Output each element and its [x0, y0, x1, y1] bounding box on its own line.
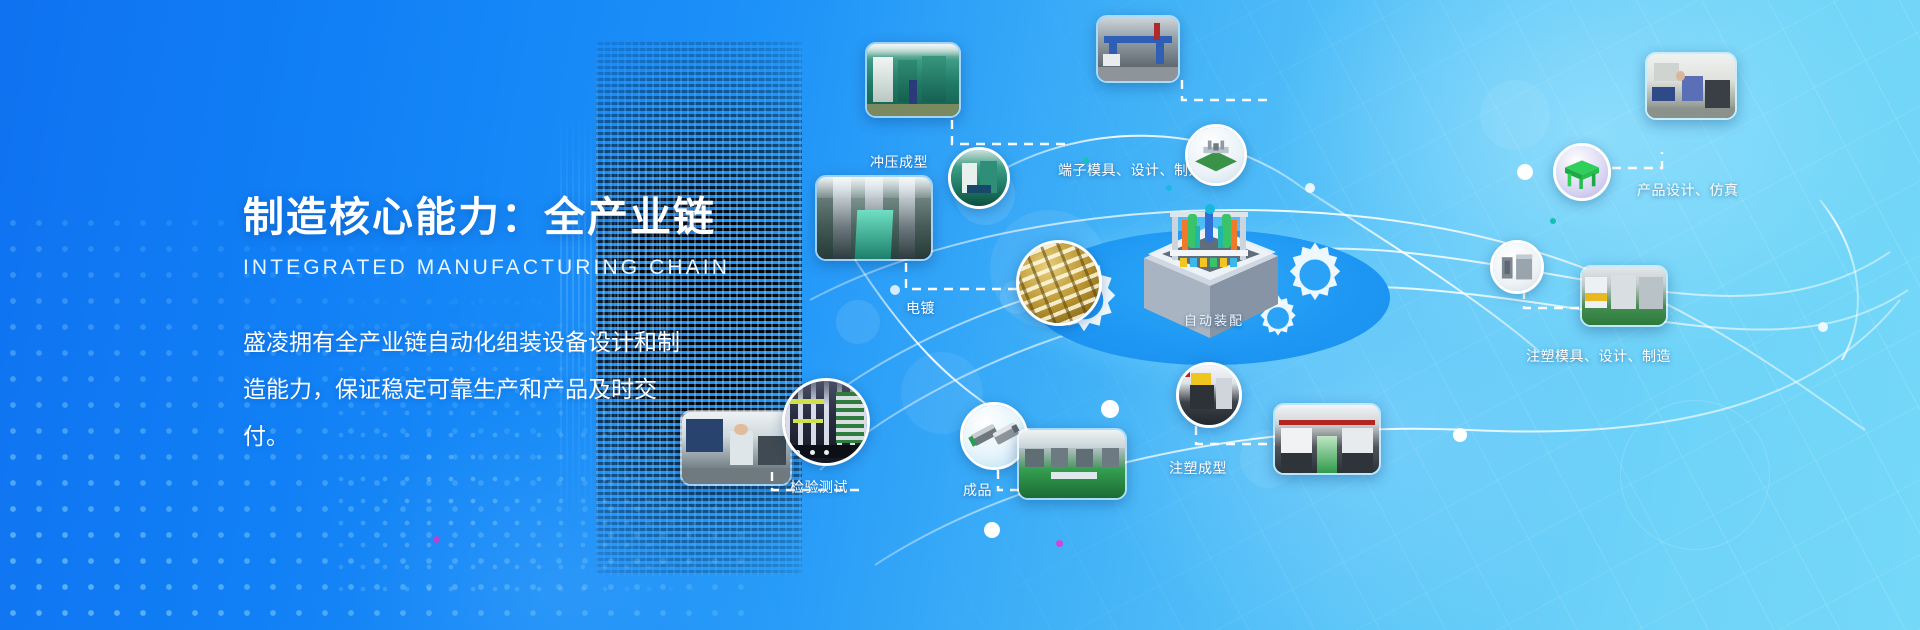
node-label-injection-mold: 注塑模具、设计、制造 — [1526, 346, 1671, 366]
node-photo-injection-mold[interactable] — [1580, 265, 1668, 327]
node-icon-plating-detail[interactable] — [1016, 240, 1102, 326]
manufacturing-chain-diagram: 自动装配 电镀 — [780, 0, 1920, 630]
node-label-injection-forming: 注塑成型 — [1169, 458, 1227, 478]
node-icon-injection-mold-3d[interactable] — [1490, 240, 1544, 294]
node-icon-stamping-machine[interactable] — [948, 147, 1010, 209]
node-label-electroplating: 电镀 — [906, 298, 935, 318]
automatic-assembly-machine: 自动装配 — [1126, 192, 1294, 342]
node-icon-product-design-3d[interactable] — [1553, 143, 1611, 201]
page-description: 盛凌拥有全产业链自动化组装设备设计和制造能力，保证稳定可靠生产和产品及时交付。 — [243, 319, 683, 460]
node-label-stamping: 冲压成型 — [870, 152, 928, 172]
node-icon-terminal-mold-3d[interactable] — [1185, 124, 1247, 186]
node-photo-product-design[interactable] — [1645, 52, 1737, 120]
node-icon-injection-machine[interactable] — [1176, 362, 1242, 428]
node-label-terminal-mold: 端子模具、设计、制造 — [1058, 160, 1203, 180]
node-label-finished-goods: 成品 — [963, 480, 992, 500]
node-photo-inspection[interactable] — [680, 410, 792, 486]
hero-copy: 制造核心能力：全产业链 INTEGRATED MANUFACTURING CHA… — [243, 183, 713, 460]
node-photo-assembly-line[interactable] — [1017, 428, 1127, 500]
node-label-product-design: 产品设计、仿真 — [1637, 180, 1739, 200]
node-photo-electroplating[interactable] — [815, 175, 933, 261]
banner-stage: 制造核心能力：全产业链 INTEGRATED MANUFACTURING CHA… — [0, 0, 1920, 630]
page-subtitle: INTEGRATED MANUFACTURING CHAIN — [243, 256, 713, 280]
node-photo-terminal-mold[interactable] — [1096, 15, 1180, 83]
sparkle-dot — [433, 536, 440, 543]
node-icon-test-fixture[interactable] — [782, 378, 870, 466]
page-title: 制造核心能力：全产业链 — [243, 183, 713, 243]
hub-center-label: 自动装配 — [1154, 310, 1274, 329]
node-photo-stamping[interactable] — [865, 42, 961, 118]
node-photo-injection-forming[interactable] — [1273, 403, 1381, 475]
node-label-inspection: 检验测试 — [790, 477, 848, 497]
